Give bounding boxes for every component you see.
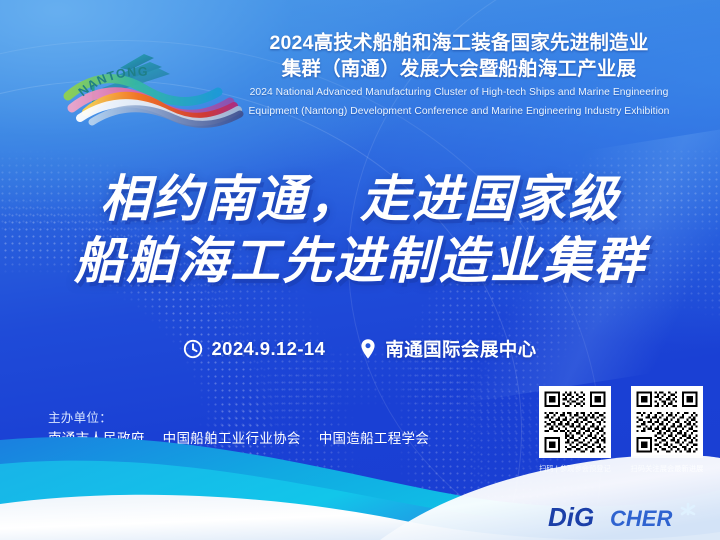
svg-text:CHER: CHER <box>610 506 672 531</box>
event-venue: 南通国际会展中心 <box>359 336 536 362</box>
poster-header: NANTONG 2024高技术船舶和海工装备国家先进制造业 集群（南通）发展大会… <box>0 26 720 138</box>
header-subtitle-line2: Equipment (Nantong) Development Conferen… <box>236 105 682 120</box>
location-pin-icon <box>359 338 377 360</box>
event-venue-text: 南通国际会展中心 <box>385 336 536 362</box>
nantong-logo: NANTONG <box>58 34 248 134</box>
headline-line1: 相约南通，走进国家级 <box>0 168 720 230</box>
clock-icon <box>183 339 203 359</box>
main-headline: 相约南通，走进国家级 船舶海工先进制造业集群 <box>0 168 720 292</box>
event-date: 2024.9.12-14 <box>183 338 325 360</box>
watermark: DiG CHER <box>548 500 704 534</box>
header-title-line2: 集群（南通）发展大会暨船舶海工产业展 <box>236 56 682 82</box>
event-meta-row: 2024.9.12-14 南通国际会展中心 <box>0 336 720 362</box>
header-title-line1: 2024高技术船舶和海工装备国家先进制造业 <box>236 30 682 56</box>
header-titles: 2024高技术船舶和海工装备国家先进制造业 集群（南通）发展大会暨船舶海工产业展… <box>236 30 682 119</box>
header-subtitle-line1: 2024 National Advanced Manufacturing Clu… <box>236 86 682 101</box>
event-date-text: 2024.9.12-14 <box>211 338 325 360</box>
svg-text:DiG: DiG <box>548 502 594 532</box>
poster-canvas: NANTONG 2024高技术船舶和海工装备国家先进制造业 集群（南通）发展大会… <box>0 0 720 540</box>
headline-line2: 船舶海工先进制造业集群 <box>0 230 720 292</box>
sparkle-icon <box>682 504 694 514</box>
